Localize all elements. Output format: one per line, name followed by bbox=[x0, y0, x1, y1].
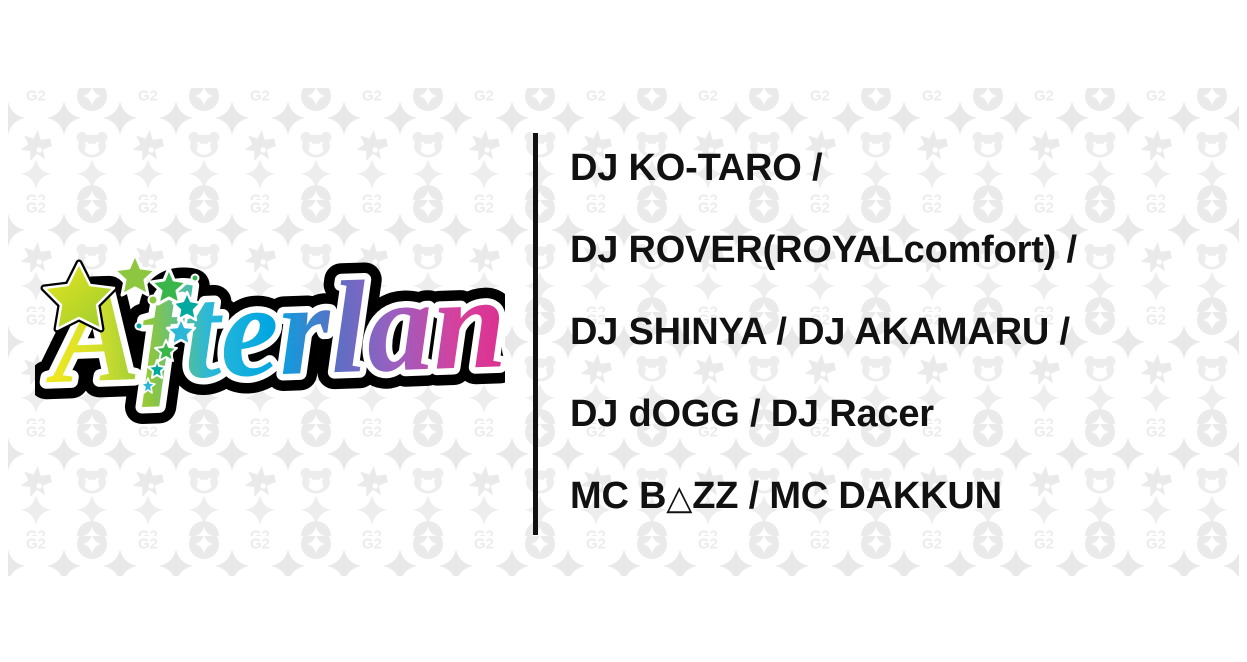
logo-pane: Afterland bbox=[0, 88, 534, 576]
body-content: Afterland bbox=[0, 88, 1247, 576]
lineup-line: MC B△ZZ / MC DAKKUN bbox=[570, 455, 1247, 537]
lineup-line: DJ dOGG / DJ Racer bbox=[570, 373, 1247, 455]
weekday-banner: WEDNESDAY bbox=[0, 0, 1247, 88]
event-flyer: WEDNESDAY bbox=[0, 0, 1247, 662]
triangle-icon: △ bbox=[666, 481, 692, 515]
logo-wordmark bbox=[42, 246, 505, 411]
flyer-body: Afterland bbox=[0, 88, 1247, 576]
lineup-pane: DJ KO-TARO / DJ ROVER(ROYALcomfort) / DJ… bbox=[534, 88, 1247, 576]
lineup-line: DJ SHINYA / DJ AKAMARU / bbox=[570, 291, 1247, 373]
afterland-logo: Afterland bbox=[35, 230, 505, 440]
lineup-line: DJ ROVER(ROYALcomfort) / bbox=[570, 209, 1247, 291]
lineup-line-prefix: MC B bbox=[570, 477, 666, 515]
lineup-line-suffix: ZZ / MC DAKKUN bbox=[692, 477, 1002, 515]
weekday-label: WEDNESDAY bbox=[0, 0, 453, 74]
lineup-line: DJ KO-TARO / bbox=[570, 127, 1247, 209]
